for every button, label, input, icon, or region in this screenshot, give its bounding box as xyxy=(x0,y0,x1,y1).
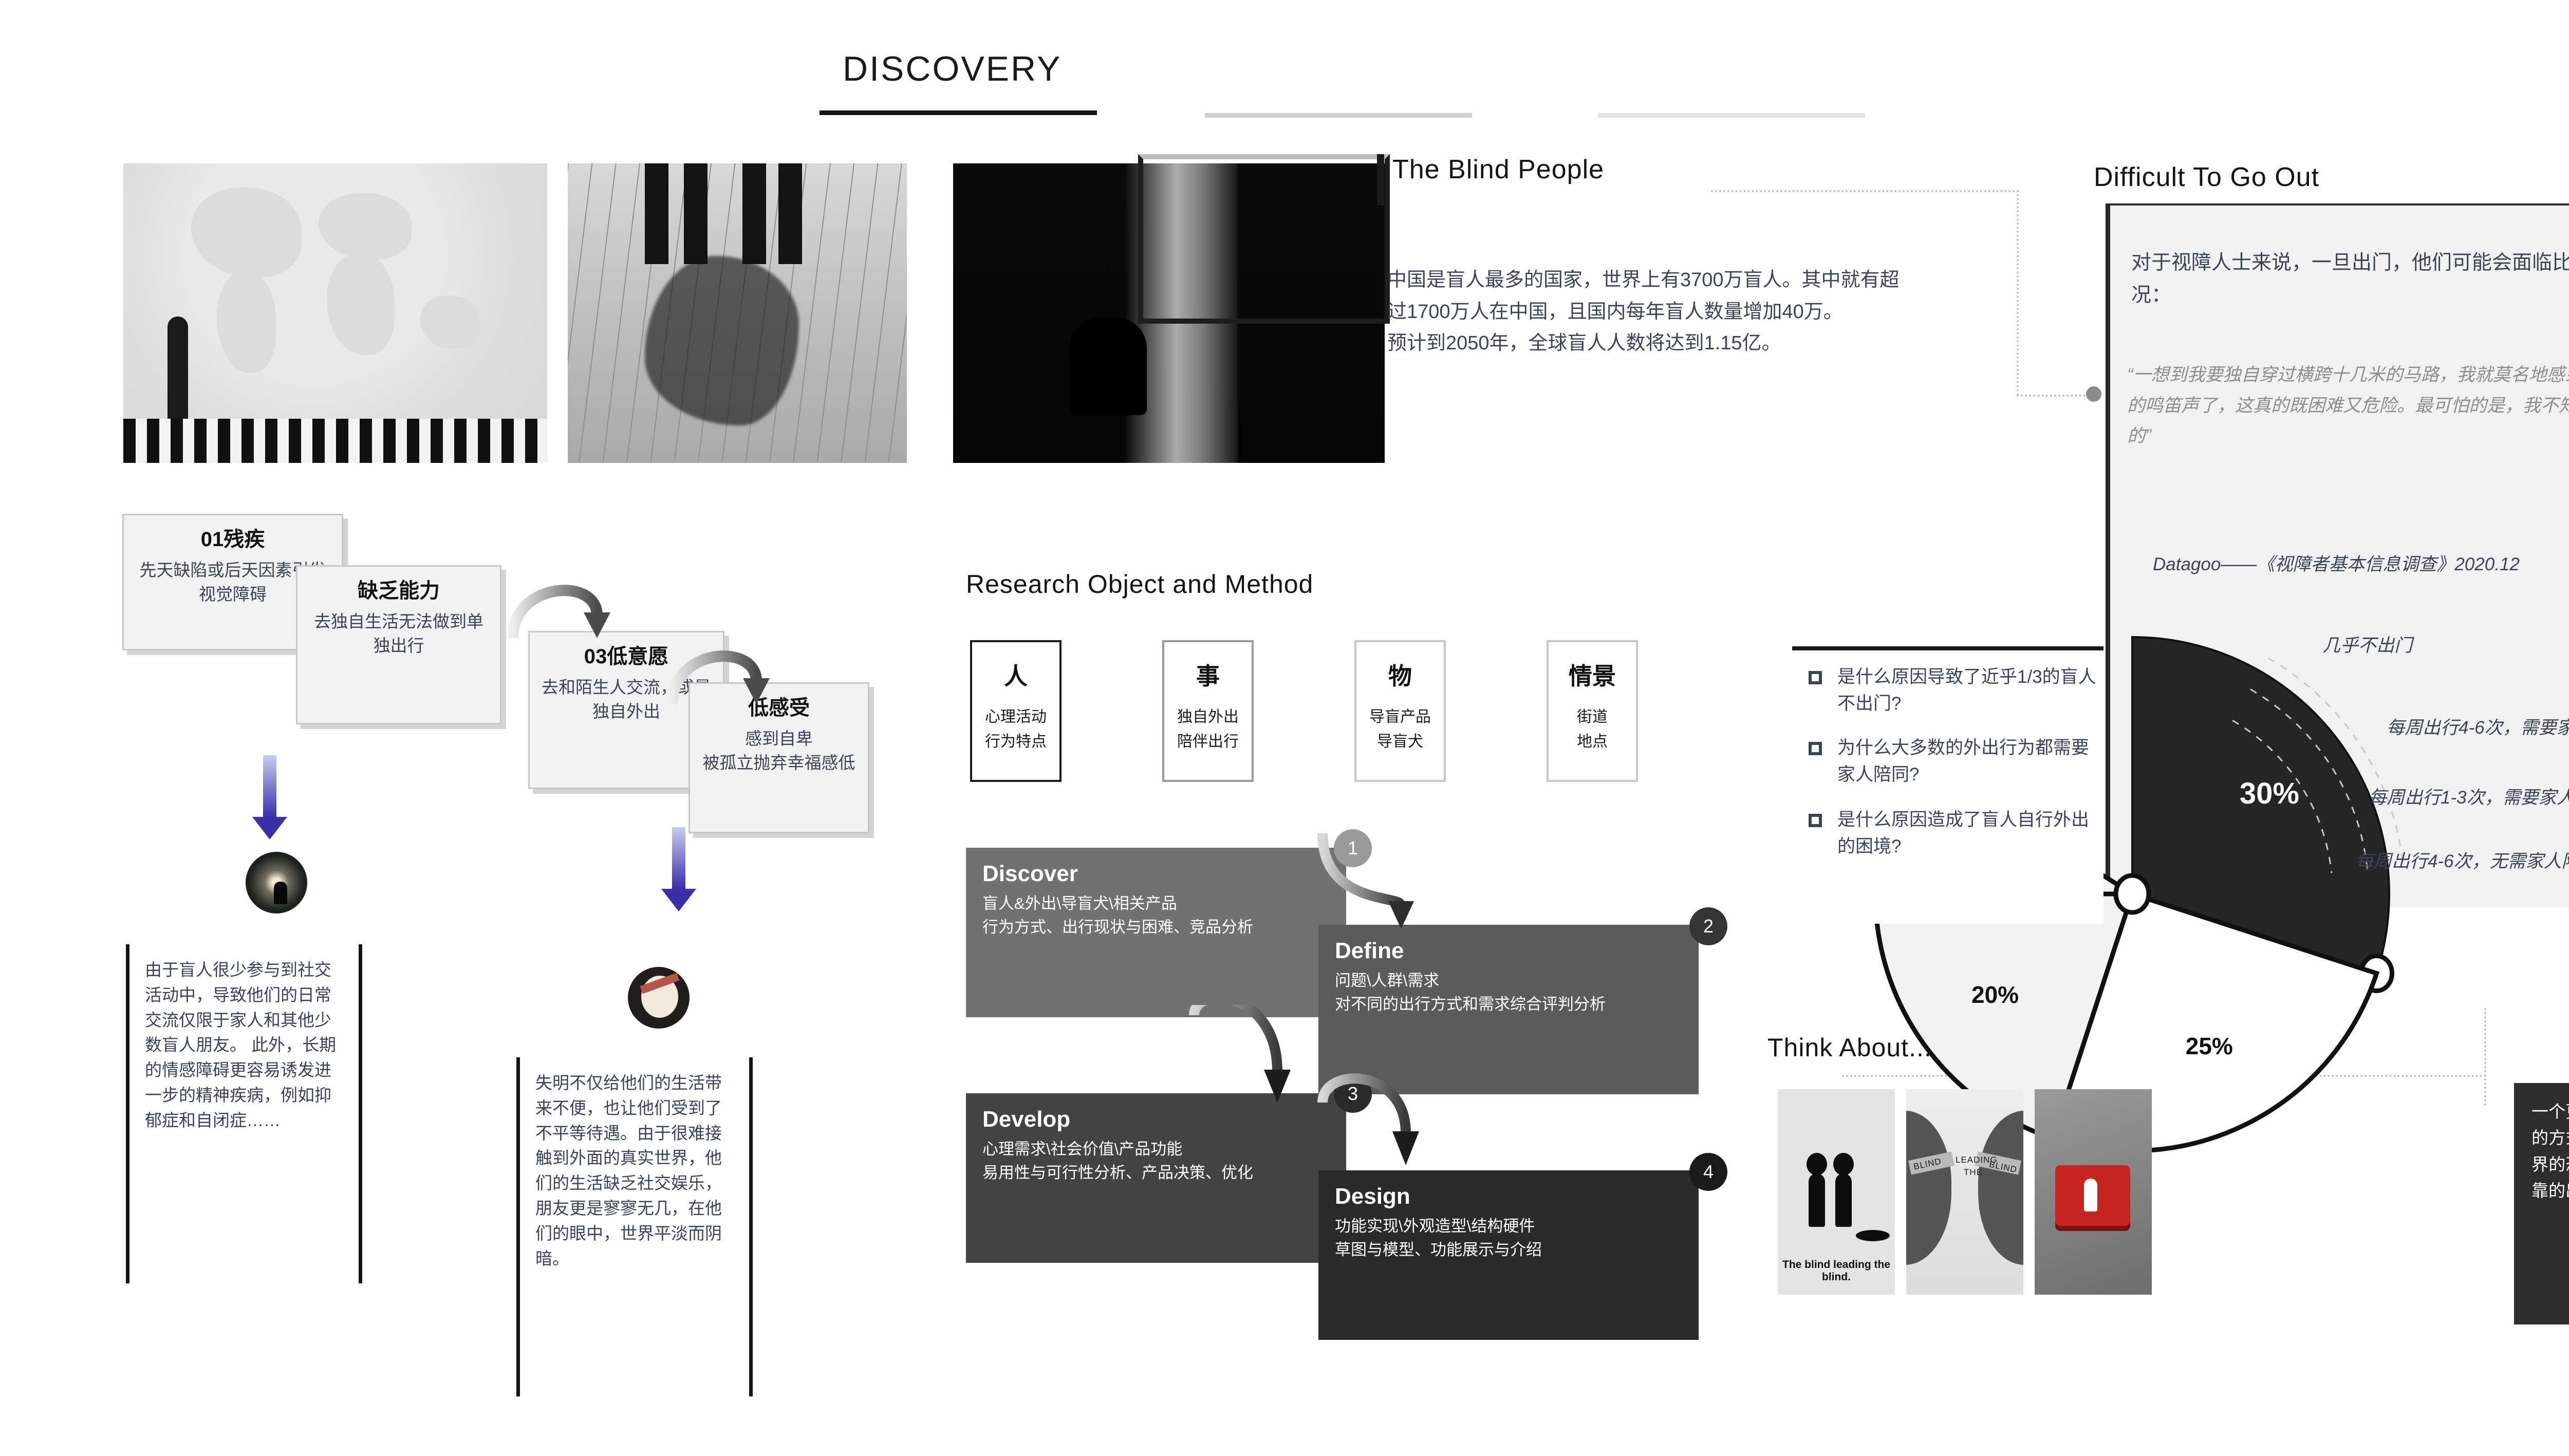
research-heading: Research Object and Method xyxy=(966,569,1313,599)
process-card-design: Design 功能实现\外观造型\结构硬件 草图与模型、功能展示与介绍 xyxy=(1318,1170,1699,1340)
section-accent-bar xyxy=(1377,154,1384,206)
flow-card-title: 01残疾 xyxy=(133,522,332,552)
pie-legend-label-1: 每周出行4-6次，需要家人陪同 xyxy=(2387,713,2569,739)
research-box-events: 事 独自外出 陪伴出行 xyxy=(1162,640,1254,782)
difficult-lead-text: 对于视障人士来说，一旦出门，他们可能会面临比身体残疾更无力的情况： xyxy=(2131,247,2569,311)
closing-statement-text: 一个更美好的世界——以更好的方式帮助他们克服内心对外界的恐惧，为他们提供安全可靠… xyxy=(2531,1098,2569,1204)
connector-line-to-panel xyxy=(2017,395,2094,397)
research-box-glyph: 情景 xyxy=(1549,658,1636,692)
process-card-heading: Develop xyxy=(982,1107,1331,1132)
question-text: 是什么原因导致了近乎1/3的盲人不出门? xyxy=(1837,664,2096,717)
curved-arrow-icon xyxy=(1187,1005,1295,1108)
header-rule-primary xyxy=(820,110,1097,115)
illustration-blindfolded-profiles: BLIND LEADING THE BLIND xyxy=(1906,1089,2023,1295)
research-box-people: 人 心理活动 行为特点 xyxy=(970,640,1062,782)
insight-note-text: 由于盲人很少参与到社交活动中，导致他们的日常交流仅限于家人和其他少数盲人朋友。 … xyxy=(145,958,343,1133)
connector-line-vertical xyxy=(2017,190,2019,396)
photo-blind-person-world-map xyxy=(123,163,547,463)
flow-card-title: 缺乏能力 xyxy=(307,574,491,604)
blind-people-heading: The Blind People xyxy=(1392,154,1604,185)
research-box-line2: 地点 xyxy=(1549,730,1636,754)
page-title: DISCOVERY xyxy=(843,49,1062,89)
checkbox-icon[interactable] xyxy=(1809,742,1822,755)
process-card-discover: Discover 盲人&外出\导盲犬\相关产品 行为方式、出行现状与困难、竞品分… xyxy=(966,848,1346,1017)
research-box-line1: 导盲产品 xyxy=(1356,705,1444,730)
process-card-body: 功能实现\外观造型\结构硬件 草图与模型、功能展示与介绍 xyxy=(1335,1215,1683,1262)
blind-people-body: 中国是盲人最多的国家，世界上有3700万盲人。其中就有超过1700万人在中国，且… xyxy=(1387,265,1911,360)
down-arrow-icon xyxy=(263,755,276,839)
process-step-badge: 2 xyxy=(1689,907,1727,945)
process-card-develop: Develop 心理需求\社会价值\产品功能 易用性与可行性分析、产品决策、优化 xyxy=(966,1093,1346,1263)
photo-accessibility-key xyxy=(2035,1089,2152,1295)
research-box-line2: 行为特点 xyxy=(972,730,1059,754)
process-step-badge: 4 xyxy=(1689,1153,1727,1191)
difficult-quote-attribution: ———一位盲人 xyxy=(2127,503,2569,530)
insight-note-text: 失明不仅给他们的生活带来不便，也让他们受到了不平等待遇。由于很难接触到外面的真实… xyxy=(535,1071,734,1272)
photo-tunnel-light-circular xyxy=(246,852,307,913)
pie-chart: 30%25%20%9% xyxy=(2101,575,2389,914)
research-box-glyph: 事 xyxy=(1164,658,1252,692)
pie-hub-marker xyxy=(2116,875,2149,912)
connector-endpoint-dot xyxy=(2086,386,2101,402)
difficult-heading: Difficult To Go Out xyxy=(2094,162,2319,193)
question-row[interactable]: 是什么原因造成了盲人自行外出的困境? xyxy=(1809,807,2096,860)
pie-legend-label-2: 每周出行1-3次，需要家人陪同 xyxy=(2369,783,2569,809)
down-arrow-icon xyxy=(672,827,685,911)
research-box-objects: 物 导盲产品 导盲犬 xyxy=(1354,640,1446,782)
connector-line-horizontal-top xyxy=(1711,190,2019,192)
checkbox-icon[interactable] xyxy=(1809,814,1822,827)
illustration-caption: The blind leading the blind. xyxy=(1778,1259,1895,1283)
pie-slice-value: 20% xyxy=(1971,981,2019,1008)
logo-blind-moon-circular xyxy=(628,967,690,1029)
process-card-body: 心理需求\社会价值\产品功能 易用性与可行性分析、产品决策、优化 xyxy=(982,1137,1331,1185)
illustration-text-mid2: THE xyxy=(1964,1167,1983,1178)
curved-arrow-icon xyxy=(668,627,771,709)
photo-pavement-shadows xyxy=(568,163,907,463)
insight-note-inequality: 失明不仅给他们的生活带来不便，也让他们受到了不平等待遇。由于很难接触到外面的真实… xyxy=(516,1057,753,1396)
question-text: 为什么大多数的外出行为都需要家人陪同? xyxy=(1837,735,2096,788)
question-row[interactable]: 是什么原因导致了近乎1/3的盲人不出门? xyxy=(1809,664,2096,717)
process-card-body: 问题\人群\需求 对不同的出行方式和需求综合评判分析 xyxy=(1335,969,1683,1016)
pie-legend-label-3: 每周出行4-6次，无需家人陪同 xyxy=(2356,847,2569,873)
process-card-body: 盲人&外出\导盲犬\相关产品 行为方式、出行现状与困难、竞品分析 xyxy=(982,892,1331,939)
research-box-line1: 独自外出 xyxy=(1164,705,1252,730)
think-about-heading: Think About... xyxy=(1767,1033,1932,1062)
photo-room-frame xyxy=(1138,154,1390,324)
insight-note-social: 由于盲人很少参与到社交活动中，导致他们的日常交流仅限于家人和其他少数盲人朋友。 … xyxy=(126,944,362,1283)
difficult-quote: “一想到我要独自穿过横跨十几米的马路，我就莫名地感到心慌，更别提听到汽车的鸣笛声… xyxy=(2127,360,2569,452)
process-card-heading: Design xyxy=(1335,1184,1683,1209)
research-box-line2: 导盲犬 xyxy=(1356,730,1444,754)
flow-card-body: 去独自生活无法做到单独出行 xyxy=(307,610,491,658)
chart-source-citation: Datagoo——《视障者基本信息调查》2020.12 xyxy=(2153,550,2520,576)
curved-arrow-icon xyxy=(1315,828,1418,931)
curved-arrow-icon xyxy=(509,561,611,643)
pie-slice-value: 25% xyxy=(2186,1033,2233,1059)
curved-arrow-icon xyxy=(1315,1072,1423,1174)
pie-slice-value: 30% xyxy=(2240,777,2299,810)
research-box-line1: 心理活动 xyxy=(972,705,1059,730)
research-box-line2: 陪伴出行 xyxy=(1164,730,1252,754)
process-card-define: Define 问题\人群\需求 对不同的出行方式和需求综合评判分析 xyxy=(1318,925,1699,1094)
flow-card-lack-ability: 缺乏能力 去独自生活无法做到单独出行 xyxy=(296,565,501,724)
research-box-glyph: 物 xyxy=(1356,658,1444,692)
connector-line-vertical-lower xyxy=(2484,1008,2486,1106)
flow-card-body: 感到自卑 被孤立抛弃幸福感低 xyxy=(699,727,859,775)
header-rule-tertiary xyxy=(1598,113,1865,118)
pie-legend-label-0: 几乎不出门 xyxy=(2322,631,2412,657)
research-box-line1: 街道 xyxy=(1549,705,1636,730)
checkbox-icon[interactable] xyxy=(1809,671,1822,684)
question-row[interactable]: 为什么大多数的外出行为都需要家人陪同? xyxy=(1809,735,2096,788)
research-box-glyph: 人 xyxy=(972,658,1059,692)
process-card-heading: Define xyxy=(1335,938,1683,964)
illustration-blind-leading-blind: The blind leading the blind. xyxy=(1778,1089,1895,1295)
closing-statement-panel: 一个更美好的世界——以更好的方式帮助他们克服内心对外界的恐惧，为他们提供安全可靠… xyxy=(2514,1083,2569,1324)
header-rule-secondary xyxy=(1205,113,1472,118)
process-card-heading: Discover xyxy=(982,861,1331,887)
research-box-scenario: 情景 街道 地点 xyxy=(1547,640,1638,782)
question-text: 是什么原因造成了盲人自行外出的困境? xyxy=(1837,807,2096,860)
